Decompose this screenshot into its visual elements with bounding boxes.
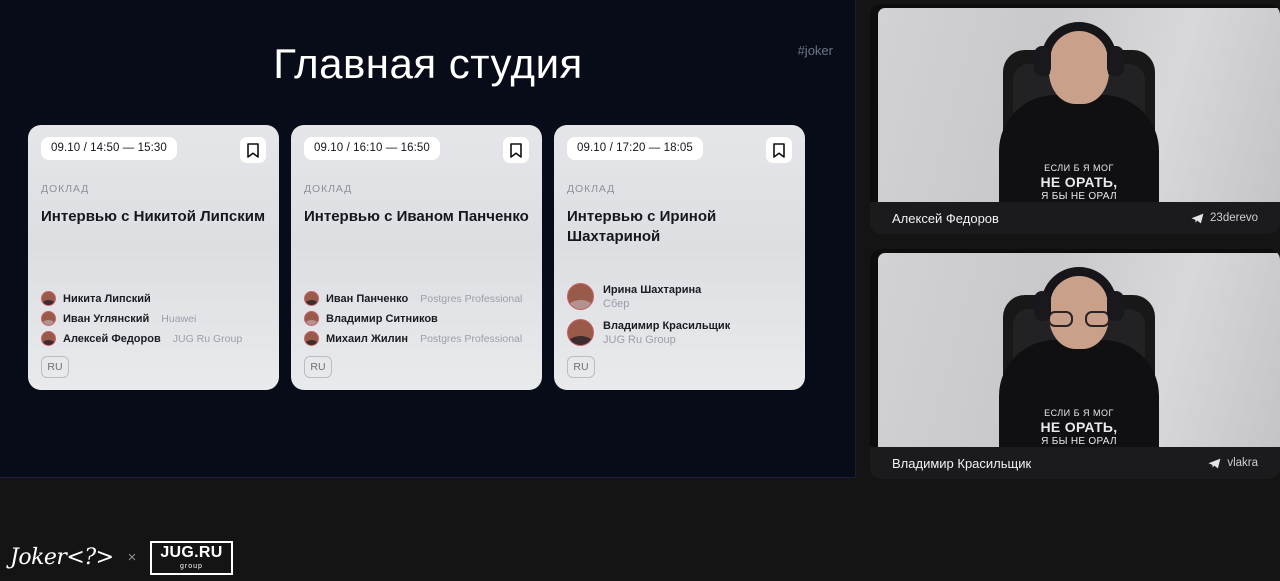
speaker-org: JUG Ru Group	[173, 333, 242, 345]
video-speaker-name: Владимир Красильщик	[892, 456, 1031, 471]
speaker-row: Ирина Шахтарина Сбер	[567, 283, 792, 310]
talk-kind: ДОКЛАД	[41, 183, 266, 195]
headphone-cup-right	[1107, 46, 1124, 76]
talk-time: 09.10 / 17:20 — 18:05	[567, 137, 703, 160]
speaker-org: Huawei	[161, 313, 196, 325]
tshirt-line-1: ЕСЛИ Б Я МОГ	[1017, 408, 1141, 419]
talk-title: Интервью с Никитой Липским	[41, 207, 266, 227]
talk-card[interactable]: 09.10 / 17:20 — 18:05 ДОКЛАД Интервью с …	[554, 125, 805, 390]
language-badge: RU	[41, 356, 69, 378]
speaker-org: JUG Ru Group	[603, 334, 730, 346]
bookmark-icon	[773, 143, 785, 158]
tshirt-line-1: ЕСЛИ Б Я МОГ	[1017, 163, 1141, 174]
jugru-logo-main: JUG.RU	[160, 545, 222, 561]
brand-block: Joker<?> × JUG.RU group	[10, 541, 233, 575]
speaker-name: Иван Панченко	[326, 293, 408, 305]
speaker-row: Иван Углянский Huawei	[41, 311, 266, 326]
presentation-screen: Главная студия #joker 09.10 / 14:50 — 15…	[0, 0, 1280, 581]
card-header: 09.10 / 17:20 — 18:05	[567, 137, 792, 163]
person-torso: ЕСЛИ Б Я МОГ НЕ ОРАТЬ, Я БЫ НЕ ОРАЛ	[999, 340, 1159, 450]
speaker-name: Михаил Жилин	[326, 333, 408, 345]
card-header: 09.10 / 16:10 — 16:50	[304, 137, 529, 163]
video-feed: ЕСЛИ Б Я МОГ НЕ ОРАТЬ, Я БЫ НЕ ОРАЛ	[878, 253, 1280, 450]
video-label-bar: Алексей Федоров 23derevo	[870, 202, 1280, 234]
handle-text: 23derevo	[1210, 212, 1258, 224]
speaker-row: Михаил Жилин Postgres Professional	[304, 331, 529, 346]
avatar	[304, 291, 319, 306]
video-tile-speaker-1[interactable]: ЕСЛИ Б Я МОГ НЕ ОРАТЬ, Я БЫ НЕ ОРАЛ Алек…	[870, 4, 1280, 234]
speaker-row: Никита Липский	[41, 291, 266, 306]
speaker-name: Владимир Красильщик	[603, 320, 730, 332]
tshirt-line-2: НЕ ОРАТЬ,	[1017, 174, 1141, 191]
headphones-icon	[1041, 267, 1117, 319]
speaker-name: Алексей Федоров	[63, 333, 161, 345]
avatar	[304, 311, 319, 326]
person-torso: ЕСЛИ Б Я МОГ НЕ ОРАТЬ, Я БЫ НЕ ОРАЛ	[999, 95, 1159, 205]
tshirt-text: ЕСЛИ Б Я МОГ НЕ ОРАТЬ, Я БЫ НЕ ОРАЛ	[1017, 163, 1141, 203]
avatar	[41, 291, 56, 306]
avatar	[41, 311, 56, 326]
speaker-name: Владимир Ситников	[326, 313, 438, 325]
brand-separator: ×	[128, 549, 137, 566]
speaker-org: Postgres Professional	[420, 293, 522, 305]
speakers-list: Ирина Шахтарина Сбер Владимир Красильщик…	[567, 283, 792, 346]
talk-card[interactable]: 09.10 / 16:10 — 16:50 ДОКЛАД Интервью с …	[291, 125, 542, 390]
video-feed: ЕСЛИ Б Я МОГ НЕ ОРАТЬ, Я БЫ НЕ ОРАЛ	[878, 8, 1280, 205]
bookmark-icon	[247, 143, 259, 158]
headphone-cup-left	[1034, 291, 1051, 321]
card-header: 09.10 / 14:50 — 15:30	[41, 137, 266, 163]
language-badge: RU	[304, 356, 332, 378]
speakers-list: Никита Липский Иван Углянский Huawei Але…	[41, 291, 266, 346]
speaker-info: Владимир Красильщик JUG Ru Group	[603, 320, 730, 346]
talk-card[interactable]: 09.10 / 14:50 — 15:30 ДОКЛАД Интервью с …	[28, 125, 279, 390]
video-tile-speaker-2[interactable]: ЕСЛИ Б Я МОГ НЕ ОРАТЬ, Я БЫ НЕ ОРАЛ Влад…	[870, 249, 1280, 479]
handle-text: vlakra	[1227, 457, 1258, 469]
talk-time: 09.10 / 16:10 — 16:50	[304, 137, 440, 160]
headphones-icon	[1041, 22, 1117, 74]
speakers-list: Иван Панченко Postgres Professional Влад…	[304, 291, 529, 346]
speaker-name: Иван Углянский	[63, 313, 149, 325]
avatar	[567, 319, 594, 346]
tshirt-text: ЕСЛИ Б Я МОГ НЕ ОРАТЬ, Я БЫ НЕ ОРАЛ	[1017, 408, 1141, 448]
speaker-row: Иван Панченко Postgres Professional	[304, 291, 529, 306]
telegram-icon	[1191, 213, 1204, 224]
speaker-row: Владимир Красильщик JUG Ru Group	[567, 319, 792, 346]
video-speaker-handle: vlakra	[1208, 457, 1258, 469]
speaker-info: Ирина Шахтарина Сбер	[603, 284, 701, 310]
jugru-logo-sub: group	[180, 561, 203, 572]
jugru-logo: JUG.RU group	[150, 541, 232, 575]
bookmark-button[interactable]	[766, 137, 792, 163]
speaker-org: Сбер	[603, 298, 701, 310]
bottom-bar: Joker<?> × JUG.RU group СБЕР	[0, 528, 1280, 581]
language-badge: RU	[567, 356, 595, 378]
schedule-panel: Главная студия #joker 09.10 / 14:50 — 15…	[0, 0, 856, 478]
bookmark-button[interactable]	[240, 137, 266, 163]
talk-title: Интервью с Ириной Шахтариной	[567, 207, 792, 246]
speaker-org: Postgres Professional	[420, 333, 522, 345]
event-hashtag: #joker	[798, 43, 833, 58]
talk-kind: ДОКЛАД	[304, 183, 529, 195]
speaker-name: Никита Липский	[63, 293, 151, 305]
bookmark-icon	[510, 143, 522, 158]
video-label-bar: Владимир Красильщик vlakra	[870, 447, 1280, 479]
bookmark-button[interactable]	[503, 137, 529, 163]
telegram-icon	[1208, 458, 1221, 469]
talk-kind: ДОКЛАД	[567, 183, 792, 195]
headphone-cup-left	[1034, 46, 1051, 76]
video-speaker-name: Алексей Федоров	[892, 211, 999, 226]
talk-cards-list: 09.10 / 14:50 — 15:30 ДОКЛАД Интервью с …	[28, 125, 805, 390]
talk-title: Интервью с Иваном Панченко	[304, 207, 529, 227]
joker-logo: Joker<?>	[10, 545, 114, 570]
speaker-row: Алексей Федоров JUG Ru Group	[41, 331, 266, 346]
speaker-name: Ирина Шахтарина	[603, 284, 701, 296]
tshirt-line-2: НЕ ОРАТЬ,	[1017, 419, 1141, 436]
headphone-cup-right	[1107, 291, 1124, 321]
avatar	[41, 331, 56, 346]
talk-time: 09.10 / 14:50 — 15:30	[41, 137, 177, 160]
speaker-row: Владимир Ситников	[304, 311, 529, 326]
avatar	[304, 331, 319, 346]
avatar	[567, 283, 594, 310]
video-speaker-handle: 23derevo	[1191, 212, 1258, 224]
page-title: Главная студия	[0, 40, 856, 88]
